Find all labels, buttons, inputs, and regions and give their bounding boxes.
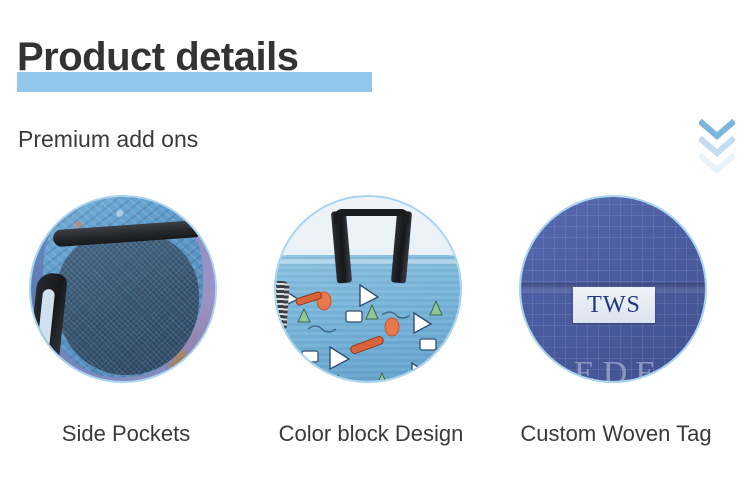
- product-image-woven-tag[interactable]: EDE TWS: [521, 197, 705, 381]
- bag-print-pattern: [276, 255, 460, 381]
- brand-tag-text: TWS: [587, 292, 641, 319]
- feature-card-color-block-design[interactable]: Color block Design: [276, 197, 466, 465]
- bag-seam: [276, 259, 460, 264]
- carry-handle-loop: [334, 209, 409, 224]
- feature-card-side-pockets[interactable]: Side Pockets: [31, 197, 221, 465]
- mesh-side-pocket: [57, 231, 199, 375]
- woven-brand-tag: TWS: [573, 287, 655, 323]
- feature-card-row: Side Pockets: [0, 197, 750, 467]
- card-caption: Color block Design: [246, 421, 496, 447]
- page-header: Product details: [17, 32, 298, 90]
- feature-card-custom-woven-tag[interactable]: EDE TWS Custom Woven Tag: [521, 197, 711, 465]
- scroll-down-indicator[interactable]: [699, 119, 739, 181]
- page-title: Product details: [17, 32, 298, 82]
- section-subtitle: Premium add ons: [18, 126, 198, 153]
- product-details-page: Product details Premium add ons: [0, 0, 750, 482]
- card-caption: Side Pockets: [1, 421, 251, 447]
- chevron-down-icon: [699, 153, 735, 175]
- product-image-side-pockets[interactable]: [31, 197, 215, 381]
- product-image-color-block[interactable]: [276, 197, 460, 381]
- card-caption: Custom Woven Tag: [491, 421, 741, 447]
- embroidered-ghost-text: EDE: [559, 355, 679, 381]
